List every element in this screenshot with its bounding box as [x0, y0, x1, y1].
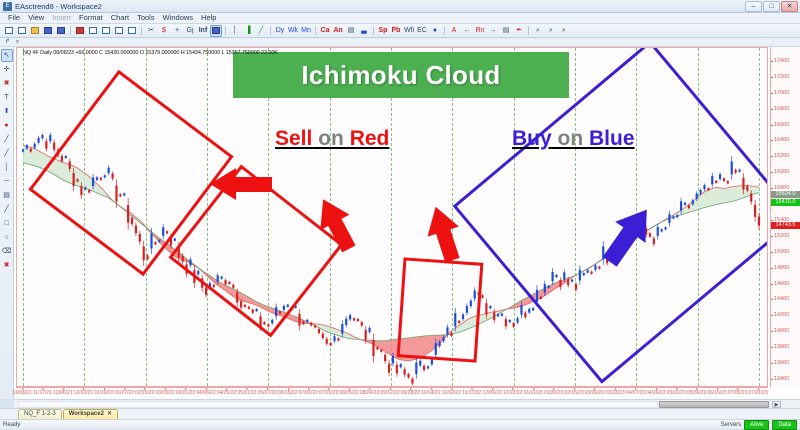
bar-chart-icon[interactable]: │	[229, 25, 241, 37]
sep-7	[442, 25, 447, 37]
replay-button[interactable]: Rn	[474, 25, 486, 37]
candle-body	[396, 365, 398, 374]
anno-part-2: Blue	[589, 127, 635, 150]
candle-body	[318, 329, 320, 333]
paste-icon[interactable]	[113, 25, 125, 37]
date-tick: 02/15/22	[135, 391, 154, 396]
date-tick: 03/06/23	[585, 391, 604, 396]
menu-item-help[interactable]: Help	[197, 13, 220, 23]
ec-button[interactable]: EC	[416, 25, 428, 37]
candle-body	[45, 141, 47, 148]
chart-horizontal-scrollbar[interactable]: ▶	[14, 399, 800, 408]
palette-vertical-line-tool[interactable]: │	[1, 161, 13, 174]
price-chart[interactable]: NQ #F Daily 08/06/23 +66.0000 C 15420.00…	[16, 47, 768, 387]
date-tick: 09/12/22	[380, 391, 399, 396]
candle-body	[330, 343, 332, 345]
candle-body	[361, 322, 363, 325]
candle-body	[337, 338, 339, 340]
menu-item-chart[interactable]: Chart	[107, 13, 133, 23]
mn-button[interactable]: Mn	[300, 25, 312, 37]
print-preview-icon[interactable]	[87, 25, 99, 37]
candle-body	[314, 325, 316, 327]
candle-body	[341, 324, 343, 334]
last-price-marker: 15420.0	[771, 199, 800, 206]
palette-pointer-tool[interactable]: ↖	[1, 49, 13, 62]
candle-body	[22, 149, 24, 151]
candle-body	[415, 363, 417, 375]
workspace-tab[interactable]: NQ_F 1-2-3	[18, 409, 62, 419]
candle-body	[302, 321, 304, 324]
grid-icon[interactable]: ▤	[345, 25, 357, 37]
indicator-icon[interactable]: Inf	[197, 25, 209, 37]
window-controls: – □ ✕	[744, 1, 798, 12]
status-bar: Ready Servers Alive Data	[0, 419, 800, 429]
sep-6	[371, 25, 376, 37]
kumo-cloud-bullish	[307, 322, 358, 340]
price-tick: 16800	[774, 107, 789, 113]
candle-body	[349, 315, 351, 319]
date-tick: 07/05/23	[728, 391, 747, 396]
sp-button[interactable]: Sp	[377, 25, 389, 37]
date-tick: 04/25/22	[217, 391, 236, 396]
sep-1	[68, 25, 73, 37]
status-text: Ready	[3, 422, 20, 428]
candle-body	[376, 347, 378, 349]
palette-fibonacci-tool[interactable]: ▤	[1, 189, 13, 202]
wk-button[interactable]: Wk	[287, 25, 299, 37]
date-tick: 07/20/22	[319, 391, 338, 396]
candle-body	[528, 309, 530, 313]
palette-crosshair-tool[interactable]: ✛	[1, 63, 13, 76]
cut-icon[interactable]: ✂	[145, 25, 157, 37]
zoom-in-icon[interactable]: ⌕	[532, 25, 544, 37]
date-tick: 03/23/23	[605, 391, 624, 396]
dollar-icon[interactable]: $	[158, 25, 170, 37]
price-tick: 13600	[774, 361, 789, 367]
price-tick: 16400	[774, 138, 789, 144]
pin-icon[interactable]: ✒	[513, 25, 525, 37]
candle-body	[532, 308, 534, 310]
date-tick: 12/06/21	[53, 391, 72, 396]
candle-body	[368, 328, 370, 332]
candle-body	[353, 318, 355, 320]
date-tick: 11/02/22	[442, 391, 461, 396]
date-tick: 06/15/22	[278, 391, 297, 396]
date-tick: 11/17/22	[462, 391, 481, 396]
date-tick: 10/14/22	[421, 391, 440, 396]
workspace-tab-bar: NQ_F 1-2-3Workspace2✕	[0, 408, 800, 419]
date-tick: 04/06/22	[196, 391, 215, 396]
candle-body	[322, 334, 324, 338]
server-alive-button[interactable]: Alive	[744, 420, 769, 430]
menu-item-insert: Insert	[48, 13, 75, 23]
date-tick: 04/07/23	[626, 391, 645, 396]
date-tick: 04/26/23	[646, 391, 665, 396]
palette-delete-tool[interactable]: ✖	[1, 77, 13, 90]
candle-body	[516, 318, 518, 322]
wfi-button[interactable]: Wfi	[403, 25, 415, 37]
an-button[interactable]: An	[332, 25, 344, 37]
palette-parallel-lines-tool[interactable]: ╱	[1, 147, 13, 160]
palette-text-tool[interactable]: T	[1, 91, 13, 104]
price-tick: 15000	[774, 250, 789, 256]
chart-window-icon[interactable]	[210, 25, 222, 37]
palette-channel-tool[interactable]: ╱	[1, 203, 13, 216]
menu-item-windows[interactable]: Windows	[159, 13, 197, 23]
server-status-group: Servers Alive Data	[721, 420, 797, 430]
menu-item-tools[interactable]: Tools	[133, 13, 159, 23]
candle-body	[49, 135, 51, 141]
date-tick: 12/06/22	[482, 391, 501, 396]
candle-body	[392, 356, 394, 364]
date-tick: 01/30/23	[544, 391, 563, 396]
drawing-tool-palette: ↖✛✖T⬆●╱╱│─▤╱□○⌫✖	[0, 47, 14, 399]
price-tick: 14800	[774, 266, 789, 272]
candle-body	[427, 366, 429, 368]
anno-part-1: on	[312, 127, 349, 150]
candle-body	[407, 374, 409, 377]
tab-label: NQ_F 1-2-3	[24, 410, 56, 419]
sell-arrow-3	[402, 203, 458, 273]
candle-body	[411, 379, 413, 384]
menu-item-format[interactable]: Format	[75, 13, 107, 23]
ichimoku-cloud-banner: Ichimoku Cloud	[233, 52, 569, 98]
sell-arrow-2	[295, 196, 351, 266]
candle-body	[513, 323, 515, 327]
scroll-right-button[interactable]: ▶	[772, 401, 781, 408]
candle-body	[306, 320, 308, 322]
ca-button[interactable]: Ca	[319, 25, 331, 37]
sep-4	[268, 25, 273, 37]
sep-2	[139, 25, 144, 37]
date-tick: 11/03/21	[12, 391, 31, 396]
candle-body	[310, 323, 312, 326]
anno-part-1: on	[552, 127, 589, 150]
candle-body	[205, 288, 207, 295]
candle-body	[372, 340, 374, 356]
date-tick: 11/17/21	[33, 391, 52, 396]
zoom-reset-icon[interactable]: ⌕	[558, 25, 570, 37]
palette-ellipse-tool[interactable]: ○	[1, 231, 13, 244]
close-button[interactable]: ✕	[781, 1, 798, 12]
candle-body	[497, 314, 499, 316]
date-tick: 05/11/23	[667, 391, 686, 396]
price-tick: 16200	[774, 154, 789, 160]
palette-trendline-tool[interactable]: ╱	[1, 133, 13, 146]
candle-chart-icon[interactable]: ▐	[242, 25, 254, 37]
date-tick: 05/11/22	[237, 391, 256, 396]
line-chart-icon[interactable]: ╱	[255, 25, 267, 37]
price-tick: 17400	[774, 59, 789, 65]
date-tick: 12/22/22	[503, 391, 522, 396]
date-tick: 09/28/22	[401, 391, 420, 396]
candle-body	[365, 330, 367, 340]
buy-arrow	[577, 188, 647, 268]
candle-body	[419, 361, 421, 366]
new-chart-icon[interactable]	[16, 25, 28, 37]
price-tick: 14600	[774, 282, 789, 288]
cursor-tool-icon[interactable]: ↱	[3, 38, 12, 46]
date-tick: 12/22/21	[74, 391, 93, 396]
candle-body	[30, 149, 32, 152]
workspace-tab[interactable]: Workspace2✕	[63, 409, 118, 419]
price-tick: 16600	[774, 123, 789, 129]
price-tick: 14200	[774, 313, 789, 319]
servers-label: Servers	[721, 422, 742, 428]
menu-bar: FileViewInsertFormatChartToolsWindowsHel…	[0, 13, 800, 24]
candle-body	[481, 295, 483, 298]
menu-item-file[interactable]: File	[4, 13, 24, 23]
tab-label: Workspace2	[69, 410, 104, 419]
date-tick: 05/30/23	[687, 391, 706, 396]
candle-body	[174, 239, 176, 241]
application-window: E EAsctrend8 - Workspace2 – □ ✕ FileView…	[0, 0, 800, 429]
date-tick: 08/05/22	[339, 391, 358, 396]
date-tick: 01/11/23	[524, 391, 543, 396]
date-tick: 02/15/23	[564, 391, 583, 396]
sell-zone-box-3	[397, 257, 484, 362]
save-icon[interactable]	[55, 25, 67, 37]
palette-dot-marker-tool[interactable]: ●	[1, 119, 13, 132]
globe-icon[interactable]: ●	[429, 25, 441, 37]
magnifier-icon[interactable]: ⌕	[13, 38, 22, 46]
candle-body	[388, 363, 390, 372]
title-bar: E EAsctrend8 - Workspace2 – □ ✕	[0, 0, 800, 13]
candle-body	[520, 305, 522, 314]
candle-body	[333, 336, 335, 341]
candle-body	[26, 145, 28, 148]
palette-arrow-marker-tool[interactable]: ⬆	[1, 105, 13, 118]
plus-icon[interactable]: +	[171, 25, 183, 37]
date-tick: 03/21/22	[176, 391, 195, 396]
price-tick: 14000	[774, 329, 789, 335]
chart-readout: NQ #F Daily 08/06/23 +66.0000 C 15420.00…	[23, 50, 278, 56]
chart-area: NQ #F Daily 08/06/23 +66.0000 C 15420.00…	[14, 47, 800, 399]
maximize-button[interactable]: □	[763, 1, 780, 12]
candle-body	[380, 350, 382, 352]
candle-body	[53, 143, 55, 150]
price-tick: 17000	[774, 91, 789, 97]
volume-icon[interactable]: ▃	[358, 25, 370, 37]
date-tick: 06/15/23	[707, 391, 726, 396]
dy-button[interactable]: Dy	[274, 25, 286, 37]
open-folder-icon[interactable]	[29, 25, 41, 37]
candle-body	[509, 320, 511, 322]
candle-body	[485, 303, 487, 314]
sep-8	[526, 25, 531, 37]
main-toolbar: ✂$+GjInf│▐╱DyWkMnCaAn▤▃SpPbWfiEC●A←Rn→▤✒…	[0, 24, 800, 38]
date-tick: 03/03/22	[155, 391, 174, 396]
candle-body	[357, 319, 359, 321]
candle-body	[34, 144, 36, 148]
quote-board-icon[interactable]	[42, 25, 54, 37]
price-tick: 13400	[774, 377, 789, 383]
anno-part-0: Buy	[512, 127, 552, 150]
candle-body	[404, 369, 406, 375]
next-icon[interactable]: →	[487, 25, 499, 37]
copy-icon[interactable]	[100, 25, 112, 37]
scroll-thumb[interactable]	[659, 401, 769, 408]
pb-button[interactable]: Pb	[390, 25, 402, 37]
candle-body	[505, 319, 507, 326]
server-data-button[interactable]: Data	[772, 420, 797, 430]
new-window-icon[interactable]	[3, 25, 15, 37]
price-tick: 13800	[774, 345, 789, 351]
buy-on-blue-label: Buy on Blue	[512, 127, 635, 151]
price-tick: 16000	[774, 170, 789, 176]
date-tick: 08/24/22	[360, 391, 379, 396]
lock-icon[interactable]	[126, 25, 138, 37]
prev-icon[interactable]: ←	[461, 25, 473, 37]
candle-body	[423, 366, 425, 370]
candle-body	[41, 135, 43, 138]
date-tick: 01/10/22	[94, 391, 113, 396]
anno-part-2: Red	[350, 127, 390, 150]
ask-price-marker: 14743.5	[771, 222, 800, 229]
secondary-toolbar: ↱⌕	[0, 38, 800, 47]
candle-body	[489, 306, 491, 308]
date-axis[interactable]: 11/03/2111/17/2112/06/2112/22/2101/10/22…	[16, 387, 768, 399]
bid-price-marker: 15504.0	[771, 191, 800, 198]
gj-icon[interactable]: Gj	[184, 25, 196, 37]
sep-5	[313, 25, 318, 37]
date-tick: 07/21/23	[748, 391, 767, 396]
candle-body	[493, 312, 495, 320]
window-title: EAsctrend8 - Workspace2	[15, 2, 102, 11]
date-tick: 01/27/22	[114, 391, 133, 396]
candle-body	[298, 314, 300, 326]
candle-body	[501, 314, 503, 316]
palette-rectangle-tool[interactable]: □	[1, 217, 13, 230]
table-icon[interactable]: ▤	[500, 25, 512, 37]
candle-body	[400, 364, 402, 367]
candle-body	[37, 138, 39, 143]
text-tool-icon[interactable]: A	[448, 25, 460, 37]
candle-body	[524, 313, 526, 318]
candle-body	[345, 319, 347, 325]
zoom-out-icon[interactable]: ⌕	[545, 25, 557, 37]
price-axis[interactable]: 1740017200170001680016600164001620016000…	[770, 47, 800, 387]
palette-clear-all-tool[interactable]: ✖	[1, 259, 13, 272]
sep-3	[223, 25, 228, 37]
scroll-track[interactable]	[18, 401, 658, 408]
minimize-button[interactable]: –	[745, 1, 762, 12]
date-tick: 07/01/22	[298, 391, 317, 396]
candle-body	[431, 359, 433, 364]
price-tick: 15200	[774, 234, 789, 240]
palette-eraser-tool[interactable]: ⌫	[1, 245, 13, 258]
sell-on-red-label: Sell on Red	[275, 127, 389, 151]
menu-item-view[interactable]: View	[24, 13, 48, 23]
palette-horizontal-line-tool[interactable]: ─	[1, 175, 13, 188]
anno-part-0: Sell	[275, 127, 312, 150]
date-tick: 05/27/22	[258, 391, 277, 396]
price-tick: 17200	[774, 75, 789, 81]
sell-arrow-1	[210, 166, 280, 206]
print-icon[interactable]	[74, 25, 86, 37]
app-icon: E	[3, 2, 12, 11]
candle-body	[384, 355, 386, 362]
candle-body	[326, 339, 328, 344]
tab-close-icon[interactable]: ✕	[107, 410, 112, 419]
price-tick: 14400	[774, 297, 789, 303]
